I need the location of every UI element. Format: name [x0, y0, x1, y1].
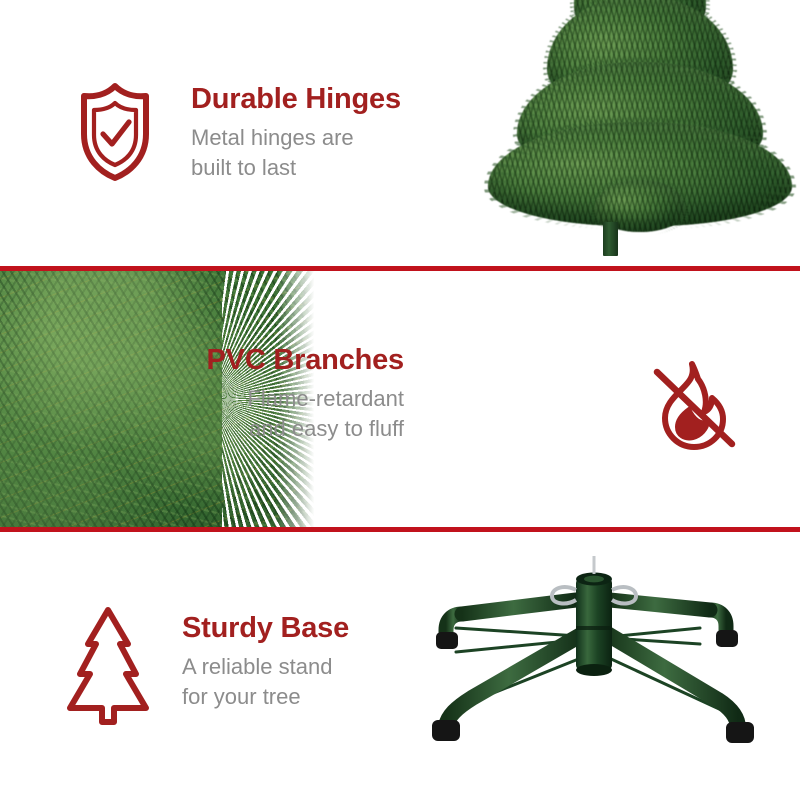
feature-copy-pvc: PVC Branches Flame-retardant and easy to…: [207, 345, 404, 444]
shield-check-icon: [76, 82, 154, 182]
tree-center-pole: [603, 222, 618, 256]
feature-panel-base: Sturdy Base A reliable stand for your tr…: [0, 532, 800, 800]
panel-headline-pvc: PVC Branches: [207, 345, 404, 375]
feature-panel-hinges: Durable Hinges Metal hinges are built to…: [0, 0, 800, 266]
panel-subline-pvc: Flame-retardant and easy to fluff: [207, 384, 404, 444]
panel-subline-base: A reliable stand for your tree: [182, 652, 349, 712]
product-feature-infographic: Durable Hinges Metal hinges are built to…: [0, 0, 800, 800]
feature-copy-base: Sturdy Base A reliable stand for your tr…: [182, 613, 349, 712]
panel-headline-hinges: Durable Hinges: [191, 84, 401, 114]
panel-subline-hinges: Metal hinges are built to last: [191, 123, 401, 183]
divider-line-1: [0, 266, 800, 271]
stand-center-post: [576, 578, 612, 670]
divider-line-2: [0, 527, 800, 532]
christmas-tree-icon: [62, 604, 154, 728]
feature-copy-hinges: Durable Hinges Metal hinges are built to…: [191, 84, 401, 183]
panel-headline-base: Sturdy Base: [182, 613, 349, 643]
christmas-tree-photo: [470, 0, 800, 256]
tree-foliage: [470, 0, 800, 256]
tree-stand-photo: [400, 548, 772, 762]
stand-leg-front-right: [604, 632, 738, 728]
no-flame-icon: [648, 358, 738, 454]
feature-panel-pvc: PVC Branches Flame-retardant and easy to…: [0, 271, 800, 527]
